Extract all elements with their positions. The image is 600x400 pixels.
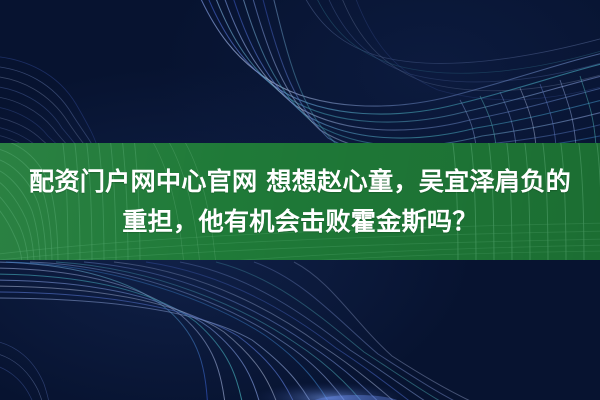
headline-line-2: 重担，他有机会击败霍金斯吗？ [122,202,477,242]
banner-image: 配资门户网中心官网 想想赵心童，吴宜泽肩负的 重担，他有机会击败霍金斯吗？ [0,0,600,400]
headline-line-1: 配资门户网中心官网 想想赵心童，吴宜泽肩负的 [29,162,571,202]
headline-band: 配资门户网中心官网 想想赵心童，吴宜泽肩负的 重担，他有机会击败霍金斯吗？ [0,143,600,260]
headline-text-block: 配资门户网中心官网 想想赵心童，吴宜泽肩负的 重担，他有机会击败霍金斯吗？ [0,143,600,260]
